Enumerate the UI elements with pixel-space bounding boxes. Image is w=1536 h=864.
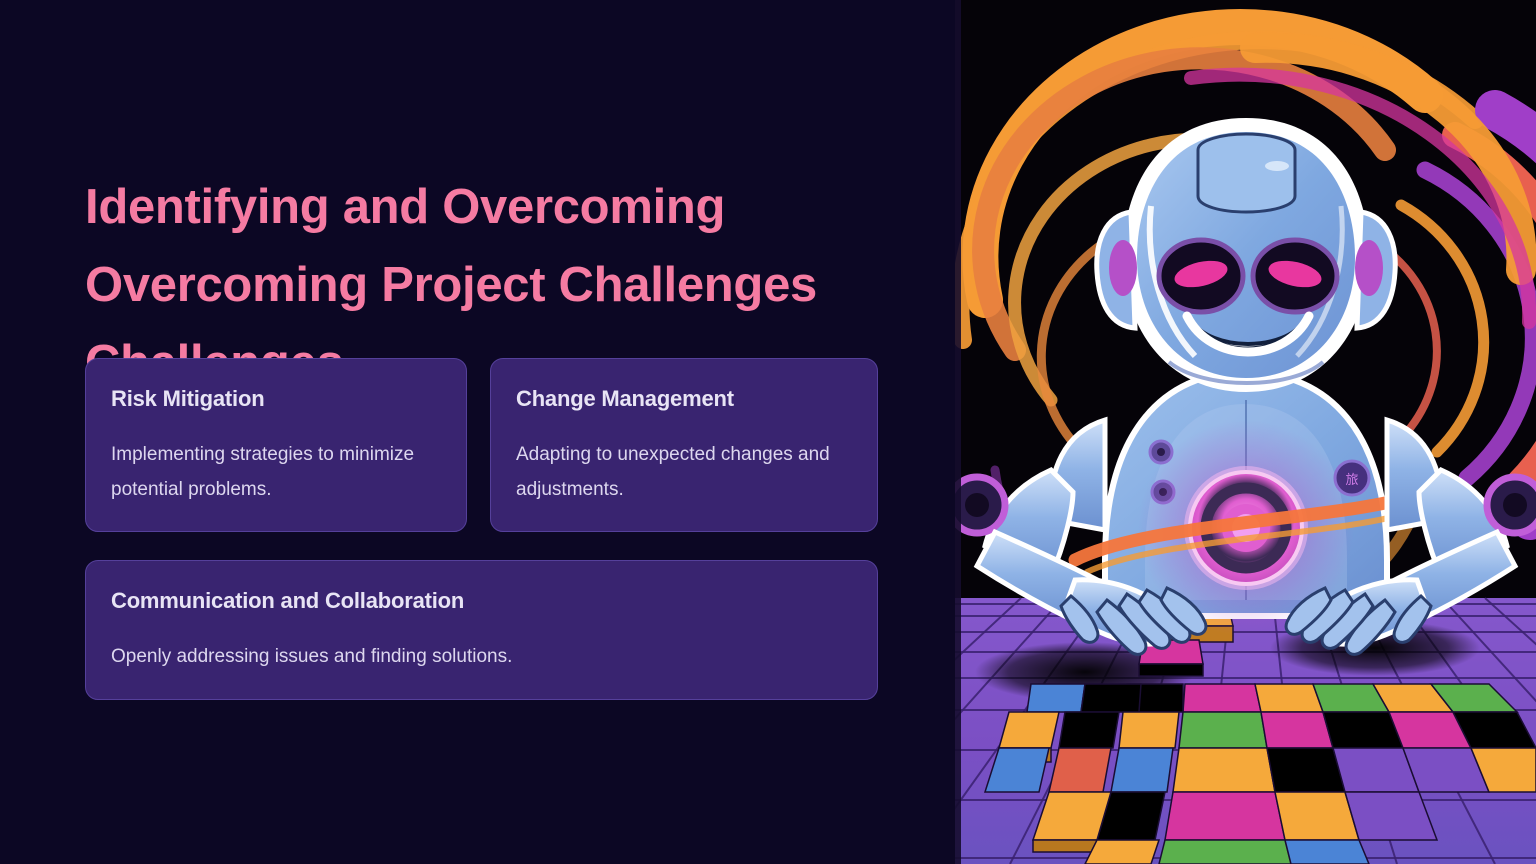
tile-row-nearest [1085, 840, 1369, 864]
card-risk-mitigation[interactable]: Risk Mitigation Implementing strategies … [85, 358, 467, 532]
cards-container: Risk Mitigation Implementing strategies … [0, 0, 955, 864]
card-title: Communication and Collaboration [111, 587, 852, 615]
artwork-panel: 旅 [955, 0, 1536, 864]
card-title: Change Management [516, 385, 852, 413]
robot-eye-right [1253, 240, 1337, 312]
card-body: Adapting to unexpected changes and adjus… [516, 437, 852, 507]
card-title: Risk Mitigation [111, 385, 441, 413]
card-change-management[interactable]: Change Management Adapting to unexpected… [490, 358, 878, 532]
card-body: Openly addressing issues and finding sol… [111, 639, 852, 674]
tile-row-far [1027, 684, 1517, 712]
card-body: Implementing strategies to minimize pote… [111, 437, 441, 507]
tile-row-lower [985, 748, 1536, 792]
robot-eye-left [1159, 240, 1243, 312]
slide-root: Identifying and Overcoming Overcoming Pr… [0, 0, 1536, 864]
card-communication-and-collaboration[interactable]: Communication and Collaboration Openly a… [85, 560, 878, 700]
robot-illustration: 旅 [955, 0, 1536, 864]
pane-edge [955, 0, 961, 864]
svg-text:旅: 旅 [1345, 472, 1358, 487]
content-pane: Identifying and Overcoming Overcoming Pr… [0, 0, 955, 864]
